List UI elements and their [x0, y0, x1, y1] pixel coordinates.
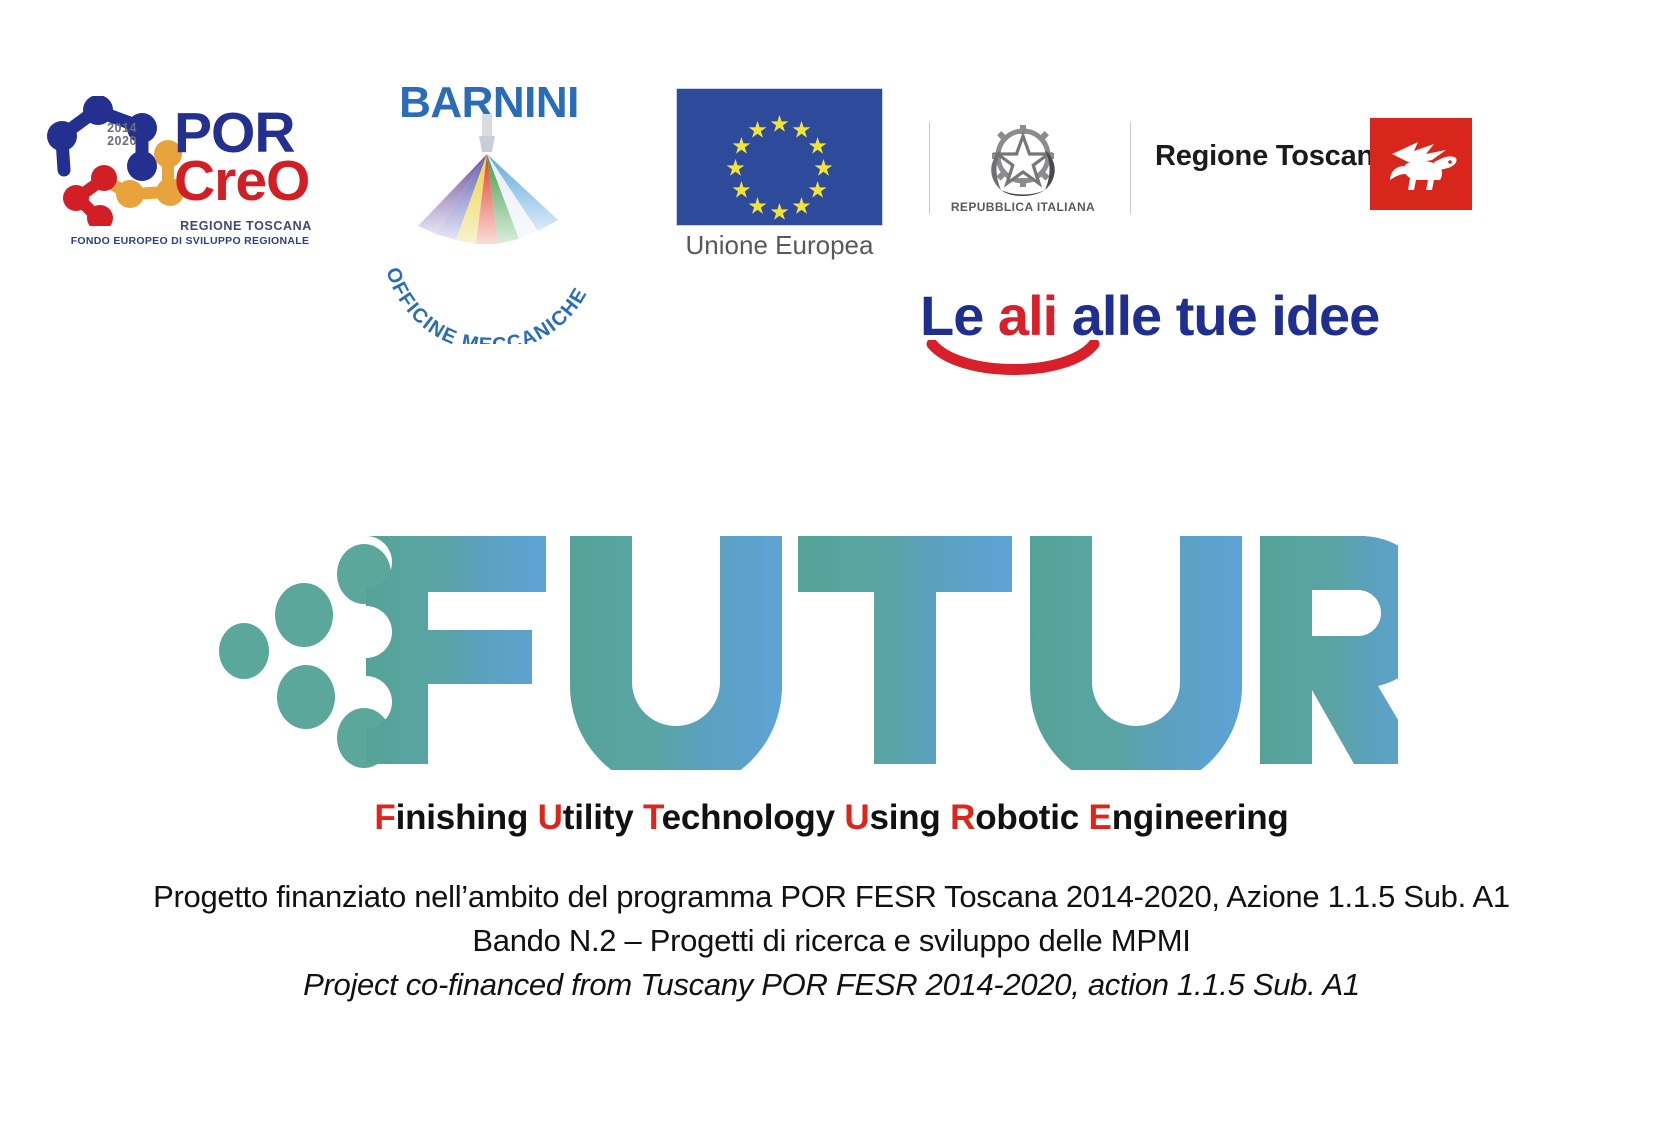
future-dot-cluster-icon	[219, 544, 391, 768]
slogan-text: Le ali alle tue idee	[920, 283, 1379, 348]
funding-line-2: Bando N.2 – Progetti di ricerca e svilup…	[0, 919, 1663, 963]
eu-flag-icon	[676, 88, 883, 226]
future-acronym-tagline: Finishing Utility Technology Using Robot…	[0, 798, 1663, 838]
eu-label: Unione Europea	[676, 230, 883, 261]
tagline-cap-u2: U	[844, 798, 869, 837]
funding-line-3-english: Project co-financed from Tuscany POR FES…	[0, 963, 1663, 1007]
tagline-word-using: sing	[869, 798, 950, 837]
tagline-word-utility: tility	[563, 798, 643, 837]
tagline-word-technology: echnology	[662, 798, 845, 837]
tagline-cap-u1: U	[538, 798, 563, 837]
tagline-cap-r: R	[950, 798, 975, 837]
por-creo-logo: 2014 2020 POR CreO REGIONE TOSCANA FONDO…	[46, 96, 334, 248]
repubblica-italiana-logo: REPUBBLICA ITALIANA	[938, 116, 1108, 216]
future-wordmark	[218, 520, 1398, 770]
tagline-cap-e: E	[1089, 798, 1112, 837]
tagline-cap-f: F	[374, 798, 395, 837]
por-creo-years: 2014 2020	[95, 122, 149, 148]
tagline-word-engineering: ngineering	[1112, 798, 1289, 837]
logo-divider-right	[1130, 122, 1131, 214]
por-creo-subtitle-region: REGIONE TOSCANA	[158, 219, 334, 233]
por-creo-word-creo: CreO	[174, 158, 309, 206]
regione-toscana-logo: Regione Toscana	[1155, 118, 1475, 210]
slogan-part-le: Le	[920, 284, 998, 347]
italian-republic-emblem-icon	[975, 116, 1071, 202]
por-creo-year-start: 2014	[107, 121, 137, 135]
future-wordmark-svg	[218, 520, 1398, 770]
regione-toscana-label: Regione Toscana	[1155, 140, 1390, 173]
repubblica-italiana-label: REPUBBLICA ITALIANA	[938, 200, 1108, 214]
tagline-word-finishing: inishing	[396, 798, 538, 837]
slogan-part-ali: ali	[998, 284, 1057, 347]
logo-divider-left	[929, 122, 930, 214]
por-creo-wordmark: POR CreO	[174, 110, 309, 206]
por-creo-subtitle-fund: FONDO EUROPEO DI SVILUPPO REGIONALE	[46, 235, 334, 247]
tagline-word-robotic: obotic	[975, 798, 1088, 837]
slogan-part-rest: alle tue idee	[1057, 284, 1379, 347]
european-union-logo: Unione Europea	[676, 88, 888, 263]
funding-line-1: Progetto finanziato nell’ambito del prog…	[0, 875, 1663, 919]
le-ali-alle-tue-idee-slogan: Le ali alle tue idee	[920, 283, 1490, 373]
tagline-cap-t: T	[643, 798, 662, 837]
por-creo-year-end: 2020	[107, 134, 137, 148]
svg-text:OFFICINE MECCANICHE: OFFICINE MECCANICHE	[381, 265, 592, 344]
barnini-logo: BARNINI	[378, 78, 608, 268]
toscana-pegasus-shield-icon	[1370, 118, 1472, 210]
barnini-arc-text: OFFICINE MECCANICHE	[372, 154, 608, 344]
eu-stars-circle	[677, 89, 882, 225]
smile-arc-icon	[926, 340, 1126, 380]
partner-logo-bar: 2014 2020 POR CreO REGIONE TOSCANA FONDO…	[0, 0, 1663, 290]
funding-statement: Progetto finanziato nell’ambito del prog…	[0, 875, 1663, 1007]
